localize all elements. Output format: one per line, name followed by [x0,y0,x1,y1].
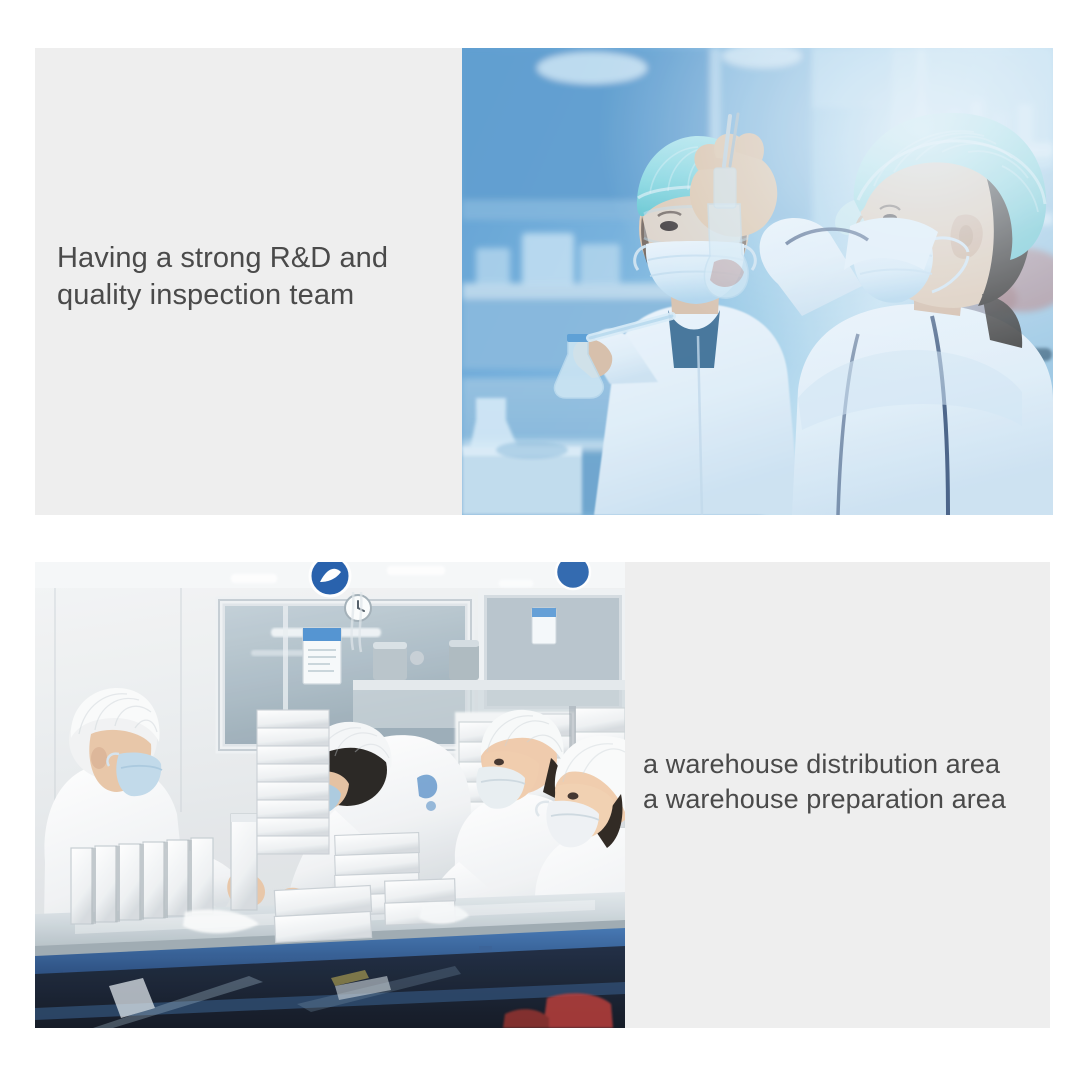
lab-photo-svg [462,48,1053,515]
warehouse-photo-svg [35,562,625,1028]
lab-quality-inspection-photo [462,48,1053,515]
section-warehouse: a warehouse distribution area a warehous… [35,562,1050,1028]
top-caption-text: Having a strong R&D and quality inspecti… [57,240,457,314]
top-caption-panel: Having a strong R&D and quality inspecti… [35,48,462,515]
warehouse-packing-photo [35,562,625,1028]
bottom-caption-text: a warehouse distribution area a warehous… [643,747,1053,817]
bottom-caption-panel: a warehouse distribution area a warehous… [625,562,1050,1028]
page-root: Having a strong R&D and quality inspecti… [0,0,1080,1080]
section-rnd-quality: Having a strong R&D and quality inspecti… [35,48,1053,515]
